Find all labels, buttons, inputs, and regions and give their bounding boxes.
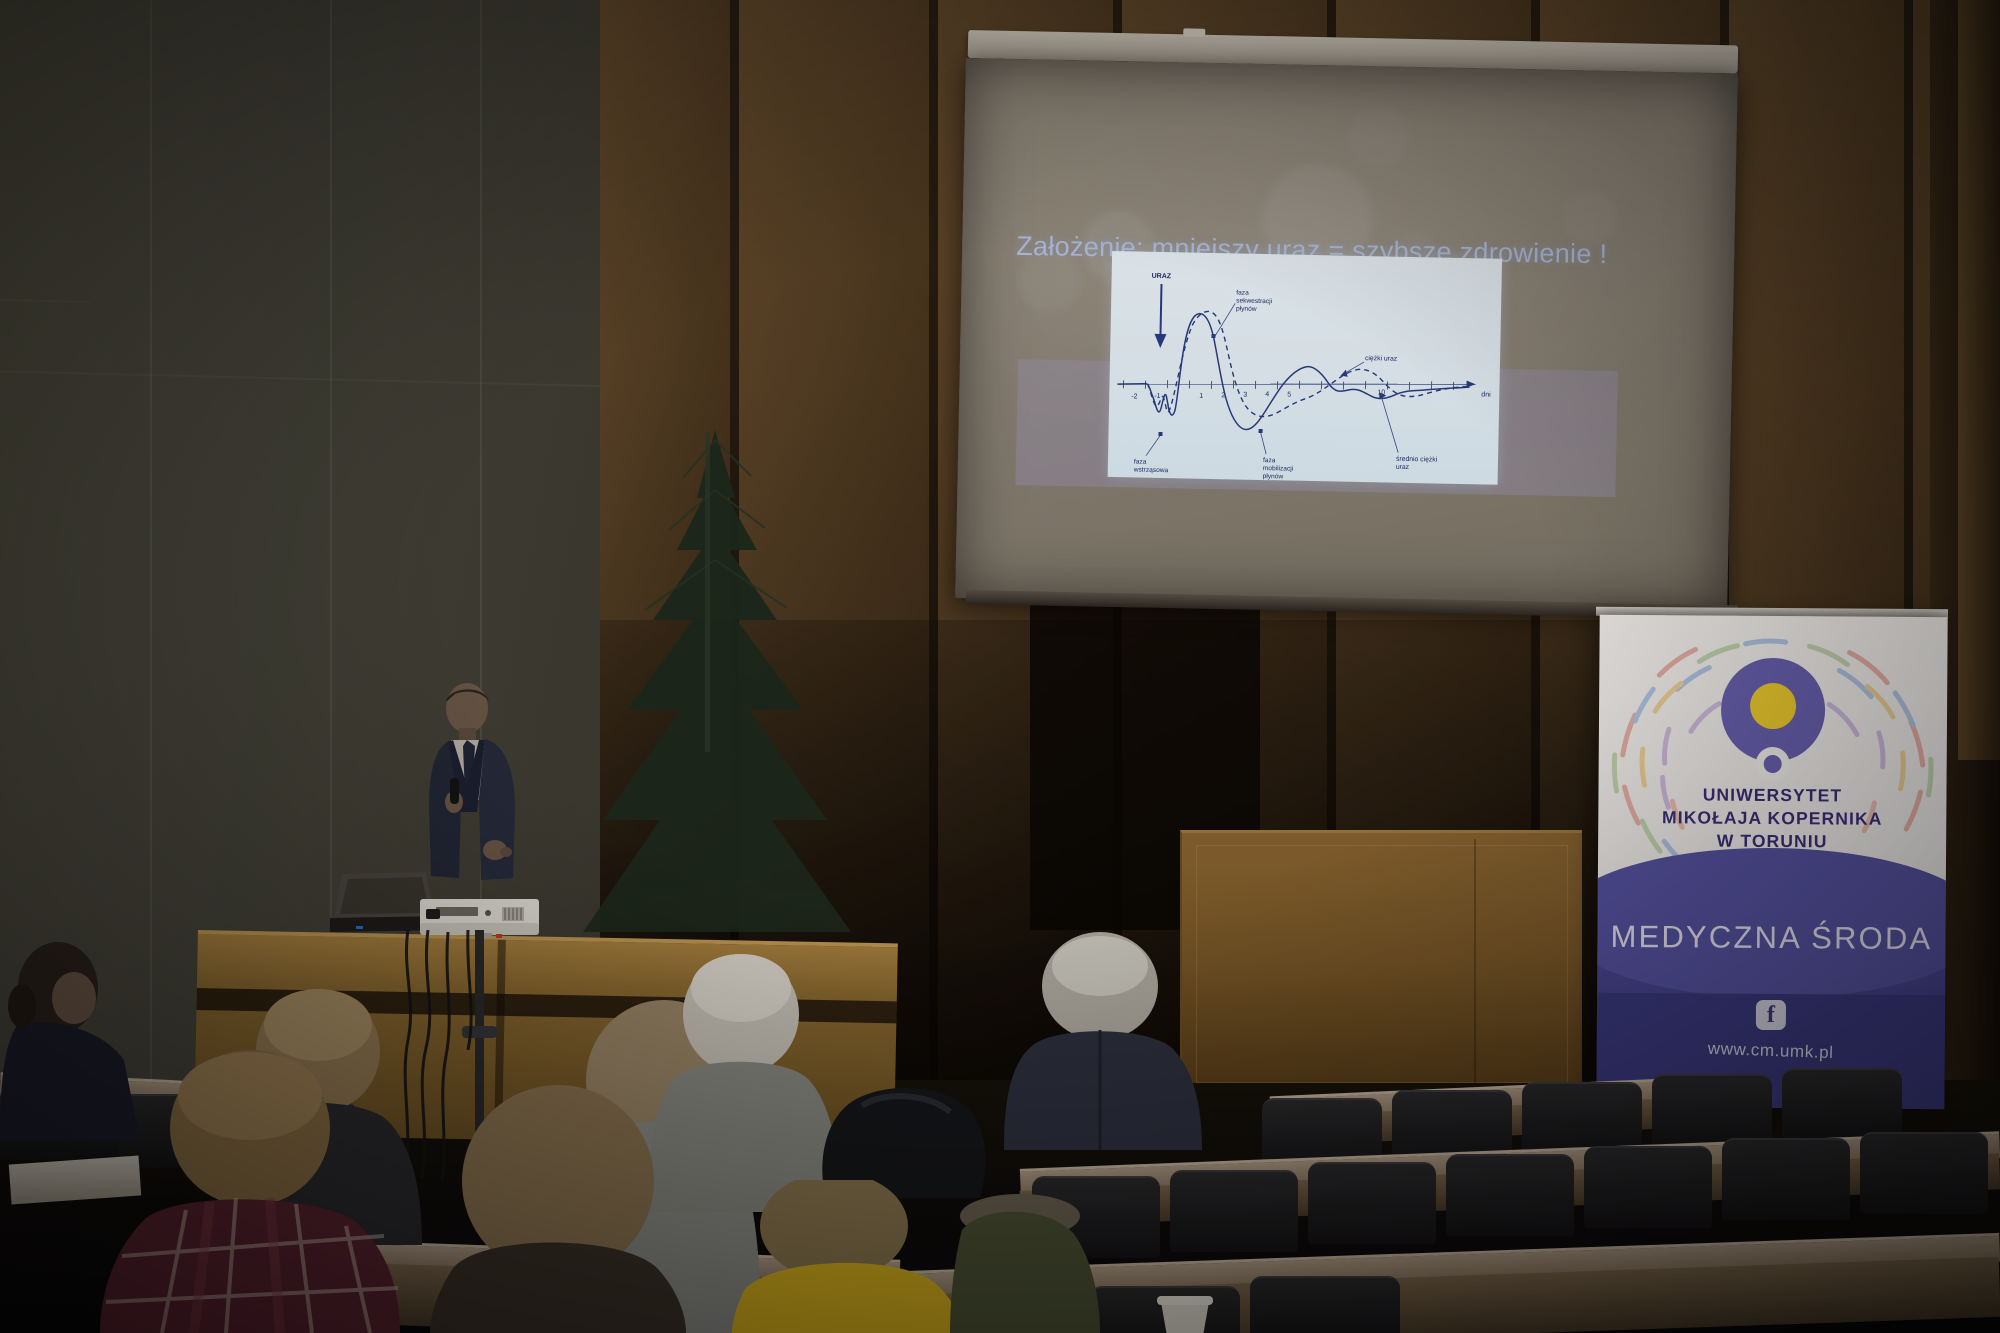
svg-text:3: 3	[1243, 392, 1247, 399]
annot-moderate-trauma: średnio ciężki uraz	[1378, 392, 1439, 471]
banner-uni-line2: MIKOŁAJA KOPERNIKA	[1598, 806, 1946, 831]
banner-event-title: MEDYCZNA ŚRODA	[1597, 919, 1945, 957]
fluid-phase-chart: -2 -1 1 2 3 4 5 10 dni UR	[1108, 251, 1502, 485]
chart-tick-labels: -2 -1 1 2 3 4 5 10	[1131, 384, 1385, 405]
svg-text:4: 4	[1265, 391, 1269, 398]
svg-text:uraz: uraz	[1396, 464, 1410, 471]
annot-sequestration: faza sekwestracji płynów	[1211, 289, 1272, 339]
svg-text:średnio ciężki: średnio ciężki	[1396, 456, 1438, 464]
annot-mobilisation-phase: faza mobilizacji płynów	[1258, 429, 1295, 481]
audience-chair[interactable]	[1308, 1162, 1436, 1244]
audience-member	[990, 930, 1220, 1150]
audience-chair[interactable]	[1584, 1146, 1712, 1228]
umk-logo-icon	[1713, 652, 1832, 799]
svg-text:ciężki uraz: ciężki uraz	[1365, 355, 1398, 363]
annot-severe-trauma: ciężki uraz	[1341, 355, 1398, 378]
svg-text:mobilizacji: mobilizacji	[1263, 465, 1294, 473]
chart-svg: -2 -1 1 2 3 4 5 10 dni UR	[1108, 251, 1502, 485]
audience-chair[interactable]	[1722, 1138, 1850, 1220]
series-moderate-trauma	[1117, 312, 1471, 434]
audience-member	[100, 1050, 400, 1333]
screenshot-root: Założenie: mniejszy uraz = szybsze zdrow…	[0, 0, 2000, 1333]
svg-text:płynów: płynów	[1236, 305, 1257, 312]
rollup-banner: UNIWERSYTET MIKOŁAJA KOPERNIKA W TORUNIU…	[1596, 615, 1947, 1109]
chart-xlabel: dni	[1481, 391, 1491, 398]
christmas-tree	[565, 420, 895, 940]
audience-member	[430, 1085, 690, 1333]
svg-text:faza: faza	[1134, 458, 1147, 465]
audience-chair[interactable]	[1446, 1154, 1574, 1236]
audience-chair[interactable]	[1860, 1132, 1988, 1214]
annot-uraz: URAZ	[1152, 273, 1172, 280]
banner-university-name: UNIWERSYTET MIKOŁAJA KOPERNIKA W TORUNIU	[1598, 783, 1946, 854]
screen-pull-knob	[1183, 28, 1205, 36]
audience-chair[interactable]	[1782, 1068, 1902, 1140]
wooden-lectern	[1180, 830, 1582, 1083]
banner-uni-line1: UNIWERSYTET	[1598, 783, 1946, 808]
audience-member	[730, 1180, 970, 1333]
svg-text:-1: -1	[1154, 393, 1160, 400]
facebook-icon[interactable]: f	[1756, 1000, 1786, 1030]
svg-text:wstrząsowa: wstrząsowa	[1133, 466, 1169, 474]
svg-text:5: 5	[1287, 392, 1291, 399]
svg-text:sekwestracji: sekwestracji	[1236, 297, 1273, 305]
svg-text:faza: faza	[1263, 457, 1276, 464]
series-severe-trauma	[1147, 310, 1471, 420]
projection-screen: Założenie: mniejszy uraz = szybsze zdrow…	[955, 58, 1738, 613]
draped-coat	[950, 1190, 1150, 1333]
paper-cup	[1155, 1296, 1215, 1333]
audience-chair[interactable]	[1170, 1170, 1298, 1252]
svg-text:faza: faza	[1236, 289, 1249, 296]
chart-x-axis	[1117, 374, 1475, 396]
audience-chair[interactable]	[1250, 1276, 1400, 1333]
svg-text:-2: -2	[1131, 393, 1137, 400]
audience-chair[interactable]	[1522, 1082, 1642, 1154]
svg-text:płynów: płynów	[1263, 473, 1284, 480]
presentation-slide: Założenie: mniejszy uraz = szybsze zdrow…	[955, 58, 1738, 613]
audience-chair[interactable]	[1652, 1074, 1772, 1146]
right-edge-panel	[1958, 0, 2000, 760]
uraz-injury-arrow	[1154, 284, 1167, 348]
annot-shock-phase: faza wstrząsowa	[1133, 431, 1170, 474]
svg-text:1: 1	[1199, 393, 1203, 400]
